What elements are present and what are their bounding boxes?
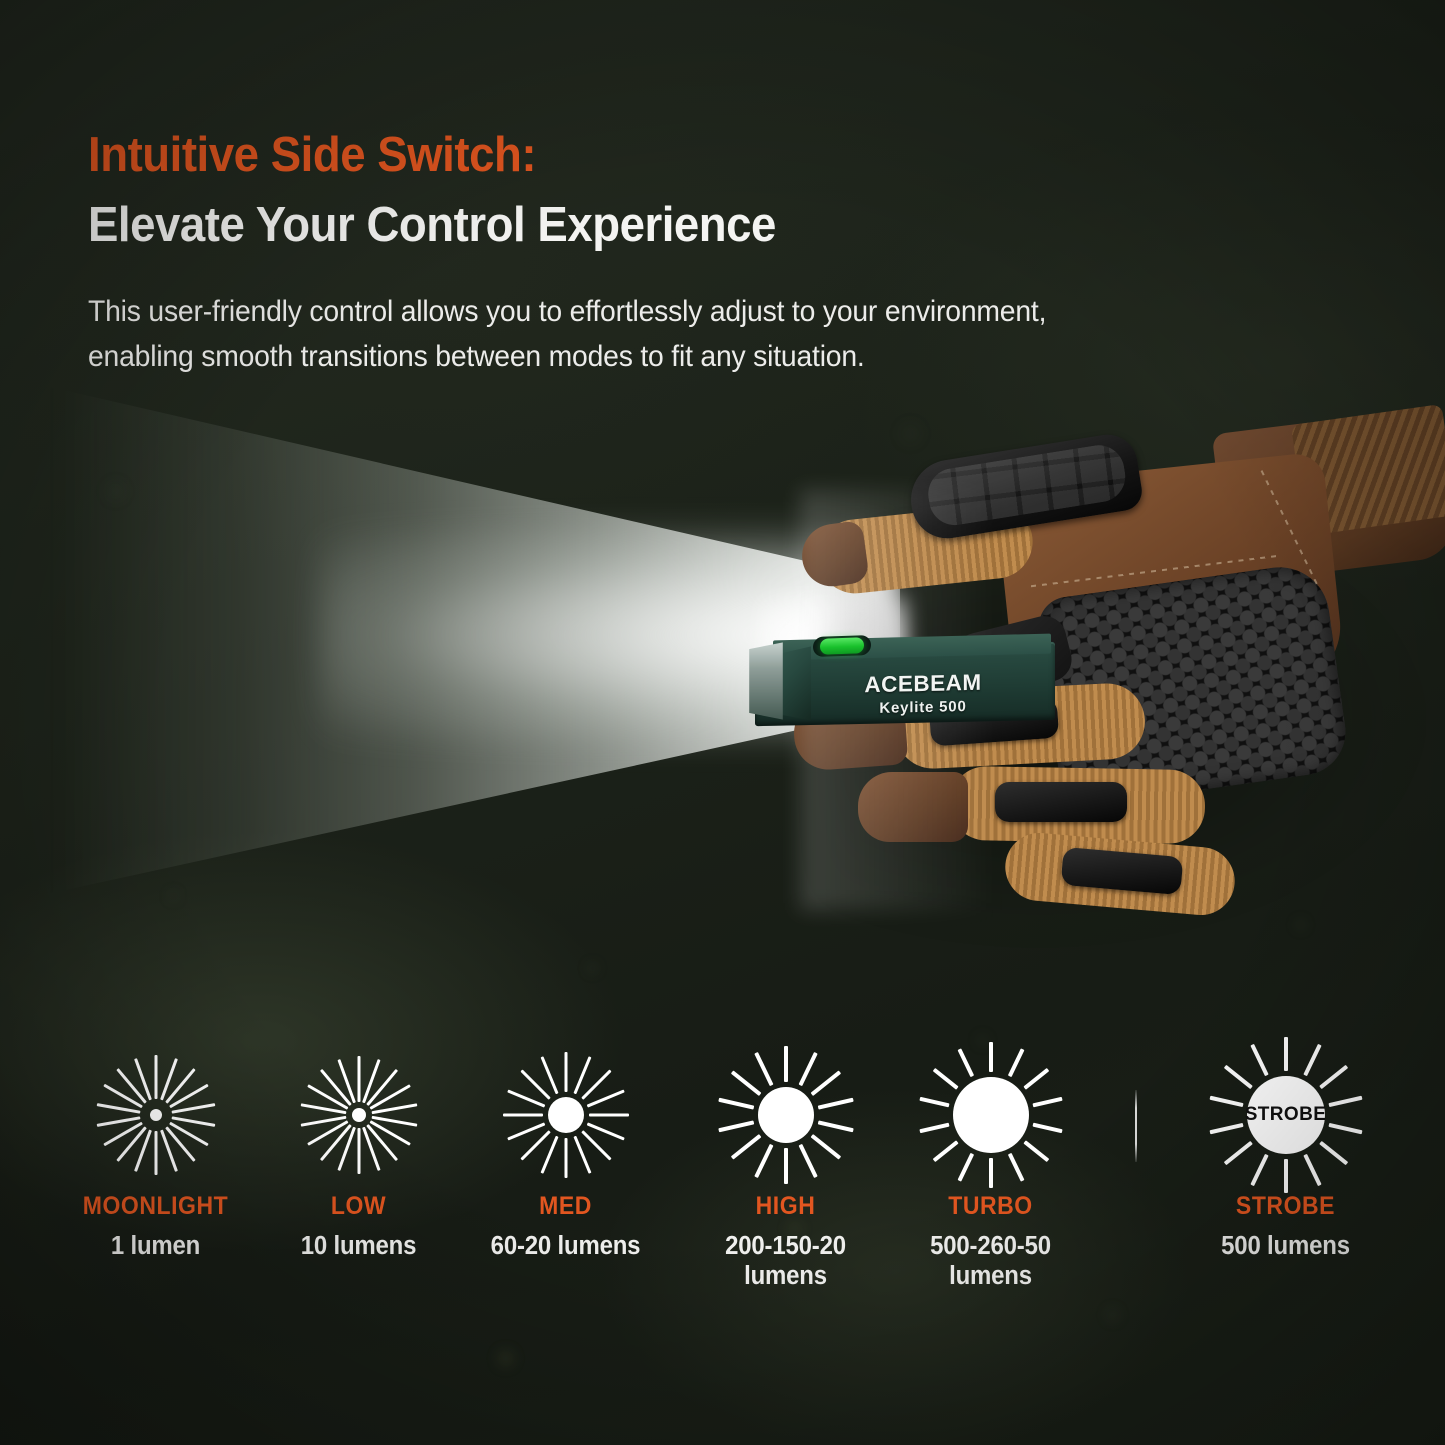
sun-burst-icon <box>678 1040 893 1190</box>
sun-core <box>953 1077 1029 1153</box>
sun-ray <box>1032 1123 1062 1134</box>
mode-column-strobe: STROBESTROBE500 lumens <box>1178 1040 1393 1261</box>
sun-burst-icon <box>251 1040 466 1190</box>
mode-name: HIGH <box>687 1194 885 1219</box>
glove-finger-armor-pad <box>995 782 1127 822</box>
mode-lumen-value: 1 lumen <box>54 1231 256 1261</box>
sun-ray <box>1284 1159 1288 1193</box>
marketing-copy: Intuitive Side Switch: Elevate Your Cont… <box>88 130 1358 380</box>
sun-ray <box>754 1052 773 1086</box>
sun-ray <box>817 1120 853 1132</box>
sun-ray <box>730 1134 761 1160</box>
sun-ray <box>171 1103 215 1114</box>
sun-ray <box>1032 1097 1062 1108</box>
sun-ray <box>957 1153 974 1182</box>
sun-ray <box>817 1098 853 1110</box>
sun-ray <box>357 1128 360 1174</box>
mode-column-turbo: TURBO500-260-50 lumens <box>883 1040 1098 1291</box>
sun-ray <box>520 1130 550 1160</box>
sun-ray <box>989 1158 993 1188</box>
sun-ray <box>919 1123 949 1134</box>
headline-secondary: Elevate Your Control Experience <box>88 199 1269 252</box>
sun-ray <box>919 1097 949 1108</box>
glove-ring-fingertip <box>858 772 968 842</box>
sun-ray <box>754 1144 773 1178</box>
sun-ray <box>357 1056 360 1102</box>
sun-ray <box>540 1136 558 1174</box>
sun-ray <box>1328 1123 1362 1134</box>
brand-name: ACEBEAM <box>833 671 1013 697</box>
sun-ray <box>784 1046 788 1082</box>
mode-name: LOW <box>260 1194 458 1219</box>
mode-column-moonlight: MOONLIGHT1 lumen <box>48 1040 263 1261</box>
sun-ray <box>1023 1140 1049 1162</box>
body-copy: This user-friendly control allows you to… <box>88 290 1307 380</box>
mode-name: MED <box>467 1194 665 1219</box>
sun-ray <box>957 1048 974 1077</box>
mode-lumen-value: 500 lumens <box>1184 1231 1386 1261</box>
sun-ray <box>586 1090 624 1108</box>
mode-name: MOONLIGHT <box>57 1194 255 1219</box>
mode-column-low: LOW10 lumens <box>251 1040 466 1261</box>
body-copy-line-1: This user-friendly control allows you to… <box>88 290 1307 335</box>
side-switch[interactable] <box>820 637 864 655</box>
sun-ray <box>154 1131 157 1175</box>
sun-ray <box>362 1127 381 1171</box>
sun-ray <box>589 1114 629 1117</box>
sun-ray <box>1223 1065 1252 1089</box>
sun-ray <box>581 1130 611 1160</box>
legend-divider <box>1135 1090 1137 1162</box>
mode-column-high: HIGH200-150-20 lumens <box>678 1040 893 1291</box>
sun-ray <box>1209 1123 1243 1134</box>
sun-ray <box>1209 1096 1243 1107</box>
sun-ray <box>1303 1044 1321 1076</box>
sun-ray <box>989 1042 993 1072</box>
sun-burst-icon <box>48 1040 263 1190</box>
sun-ray <box>1250 1044 1268 1076</box>
strobe-burst-icon: STROBE <box>1178 1040 1393 1190</box>
sun-ray <box>1250 1154 1268 1186</box>
sun-ray <box>932 1068 958 1090</box>
sun-burst-icon <box>458 1040 673 1190</box>
sun-ray <box>1007 1153 1024 1182</box>
body-copy-line-2: enabling smooth transitions between mode… <box>88 335 1307 380</box>
sun-ray <box>798 1052 817 1086</box>
mode-name: STROBE <box>1187 1194 1385 1219</box>
sun-ray <box>1284 1037 1288 1071</box>
sun-ray <box>1319 1065 1348 1089</box>
sun-ray <box>1319 1141 1348 1165</box>
sun-burst-icon <box>883 1040 1098 1190</box>
sun-ray <box>564 1052 567 1092</box>
sun-ray <box>730 1070 761 1096</box>
mode-lumen-value: 500-260-50 lumens <box>889 1231 1091 1291</box>
sun-ray <box>932 1140 958 1162</box>
flashlight-branding: ACEBEAM Keylite 500 <box>833 671 1013 716</box>
sun-ray <box>573 1136 591 1174</box>
mode-column-med: MED60-20 lumens <box>458 1040 673 1261</box>
sun-ray <box>503 1114 543 1117</box>
sun-ray <box>718 1098 754 1110</box>
mode-legend: MOONLIGHT1 lumenLOW10 lumensMED60-20 lum… <box>0 1040 1445 1330</box>
sun-ray <box>784 1148 788 1184</box>
sun-core <box>352 1108 366 1122</box>
sun-ray <box>810 1070 841 1096</box>
sun-ray <box>507 1090 545 1108</box>
headline-primary: Intuitive Side Switch: <box>88 130 1269 181</box>
sun-ray <box>1223 1141 1252 1165</box>
sun-ray <box>507 1122 545 1140</box>
sun-core <box>548 1097 584 1133</box>
mode-lumen-value: 60-20 lumens <box>464 1231 666 1261</box>
sun-ray <box>96 1103 140 1114</box>
flashlight-product: ACEBEAM Keylite 500 <box>755 625 1095 735</box>
sun-core <box>758 1087 814 1143</box>
mode-lumen-value: 200-150-20 lumens <box>684 1231 886 1291</box>
strobe-inner-label: STROBE <box>1245 1104 1327 1126</box>
sun-ray <box>1303 1154 1321 1186</box>
mode-name: TURBO <box>892 1194 1090 1219</box>
sun-ray <box>718 1120 754 1132</box>
sun-ray <box>798 1144 817 1178</box>
sun-ray <box>564 1138 567 1178</box>
glove-index-fingertip <box>798 520 870 590</box>
sun-ray <box>337 1127 356 1171</box>
flashlight-head-lens <box>749 639 783 723</box>
sun-ray <box>1007 1048 1024 1077</box>
sun-ray <box>810 1134 841 1160</box>
sun-ray <box>154 1055 157 1099</box>
sun-ray <box>1023 1068 1049 1090</box>
mode-lumen-value: 10 lumens <box>257 1231 459 1261</box>
sun-ray <box>1328 1096 1362 1107</box>
sun-core <box>150 1109 162 1121</box>
